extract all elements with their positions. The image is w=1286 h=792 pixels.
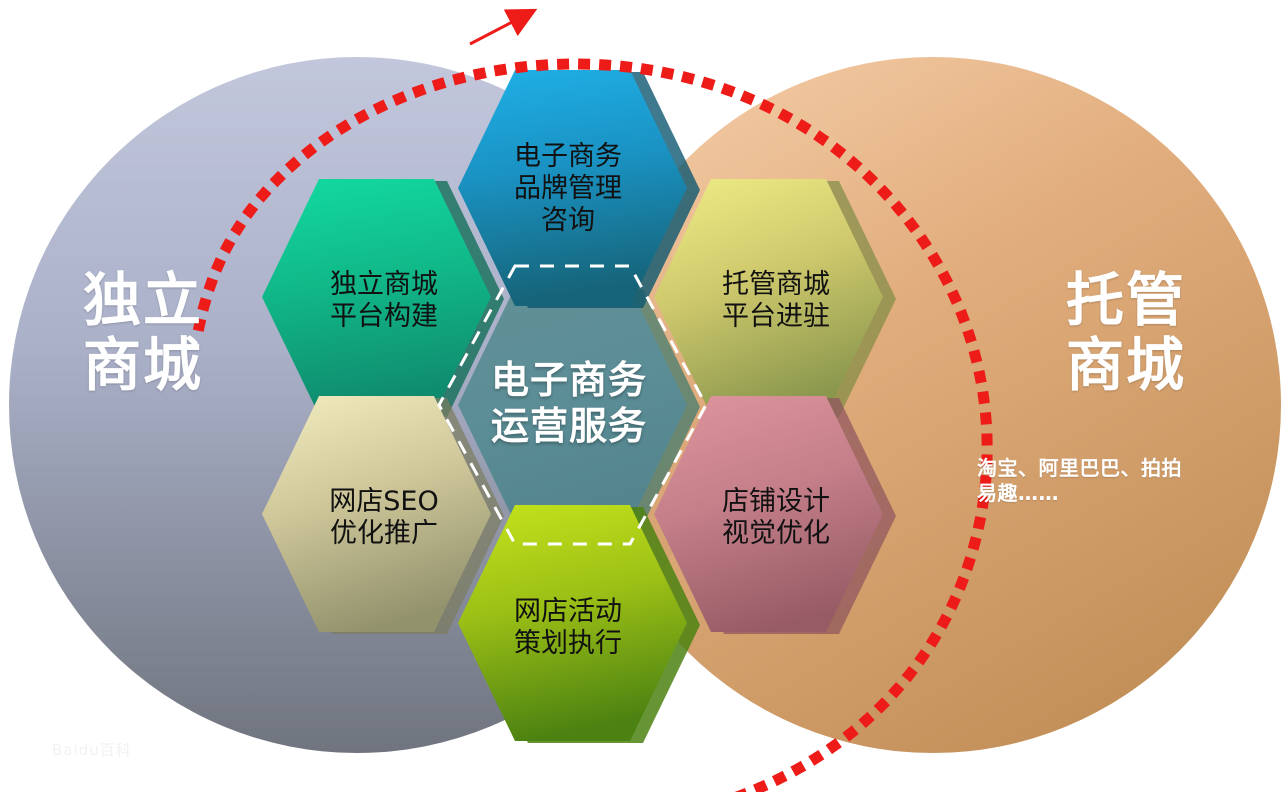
diagram-graphics	[0, 0, 1286, 792]
red-arrow-head-path	[470, 20, 516, 44]
baidu-baike-watermark: Baidu百科	[52, 739, 132, 760]
diagram-canvas: 独立 商城 托管 商城 淘宝、阿里巴巴、拍拍 易趣…… 电子商务 品牌管理 咨询…	[0, 0, 1286, 792]
